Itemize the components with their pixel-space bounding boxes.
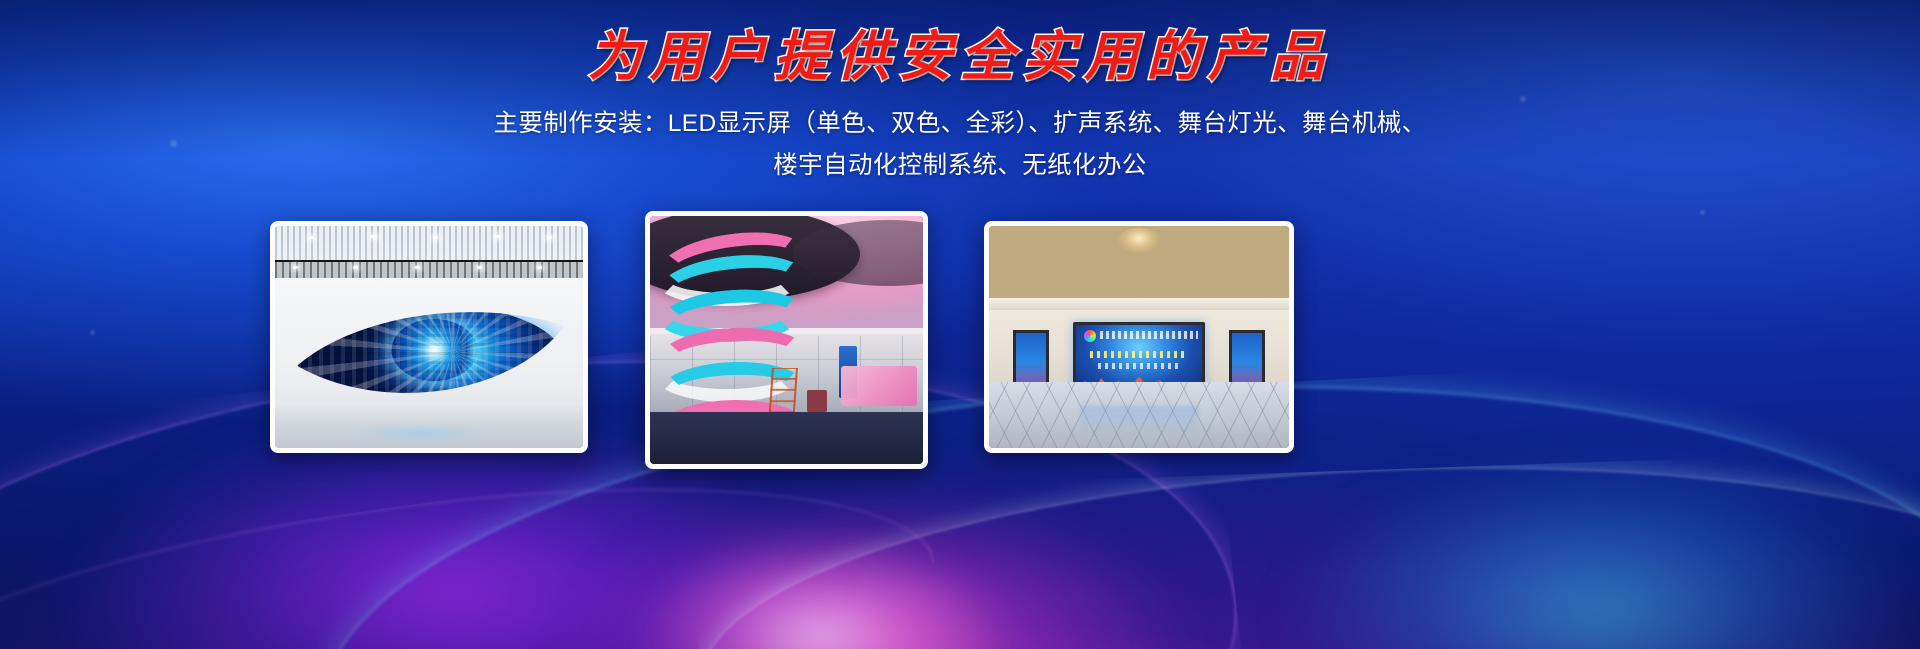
photo-spiral-helix-led-column (650, 216, 923, 464)
ceiling-light (477, 266, 482, 269)
chandelier (1117, 228, 1161, 254)
ceiling-light (415, 266, 420, 269)
banner-content: 为用户提供安全实用的产品 主要制作安装：LED显示屏（单色、双色、全彩）、扩声系… (0, 24, 1920, 483)
ceiling (275, 226, 583, 260)
ceiling-light (433, 236, 438, 239)
screen-body-text (1098, 363, 1180, 369)
ceiling-strip (275, 262, 583, 278)
subtitle-block: 主要制作安装：LED显示屏（单色、双色、全彩）、扩声系统、舞台灯光、舞台机械、 … (0, 103, 1920, 187)
screen-subtitle-text (1090, 351, 1188, 358)
company-logo-icon (1084, 330, 1096, 342)
subtitle-line-2: 楼宇自动化控制系统、无纸化办公 (0, 145, 1920, 187)
gallery-item-eye-shaped-led-display[interactable] (270, 221, 588, 453)
ceiling-light (547, 236, 552, 239)
promo-banner: 为用户提供安全实用的产品 主要制作安装：LED显示屏（单色、双色、全彩）、扩声系… (0, 0, 1920, 649)
floor-reflection (1080, 406, 1198, 440)
gallery-item-spiral-helix-led-column[interactable] (645, 211, 928, 469)
ceiling-light (309, 236, 314, 239)
ceiling-light (371, 235, 376, 238)
base-platform (650, 412, 923, 464)
photo-eye-shaped-led-display (275, 226, 583, 448)
ceiling-light (353, 266, 358, 269)
screen-title-text (1100, 331, 1198, 339)
ceiling-light (293, 266, 298, 269)
pink-banner (841, 366, 917, 406)
gallery-item-conference-hall-led-wall[interactable] (984, 221, 1294, 453)
subtitle-line-1: 主要制作安装：LED显示屏（单色、双色、全彩）、扩声系统、舞台灯光、舞台机械、 (0, 103, 1920, 145)
photo-conference-hall-led-wall (989, 226, 1289, 448)
chair (807, 390, 827, 412)
gallery (0, 213, 1920, 483)
page-title: 为用户提供安全实用的产品 (0, 24, 1920, 89)
ceiling-light (495, 235, 500, 238)
floor-reflection (315, 420, 525, 446)
ceiling-trim (989, 298, 1289, 310)
ceiling-light (537, 266, 542, 269)
